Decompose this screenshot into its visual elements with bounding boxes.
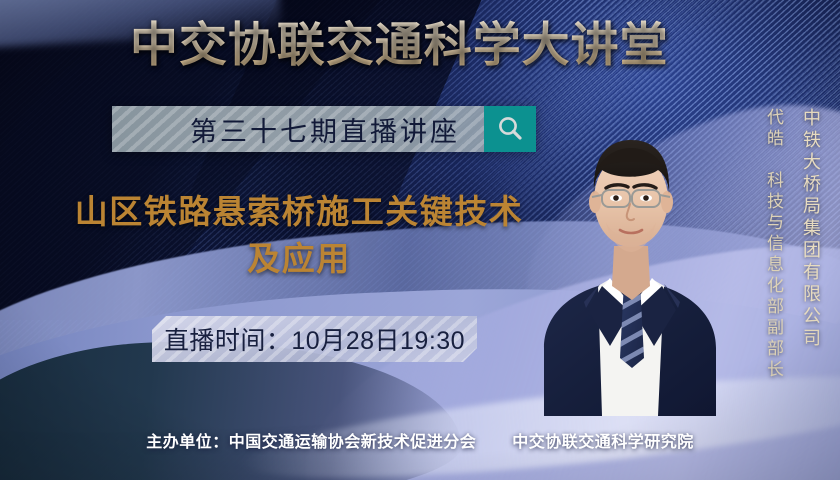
page-title: 中交协联交通科学大讲堂	[130, 16, 732, 74]
organizer-secondary: 中交协联交通科学研究院	[512, 434, 694, 451]
lecture-title: 山区铁路悬索桥施工关键技术 及应用	[44, 188, 554, 282]
broadcast-time-badge: 直播时间：10月28日19:30	[152, 316, 477, 362]
broadcast-time-label: 直播时间：10月28日19:30	[164, 321, 465, 357]
lecture-title-line-1: 山区铁路悬索桥施工关键技术	[44, 188, 554, 235]
speaker-organization: 中铁大桥局集团有限公司	[798, 108, 824, 350]
search-button[interactable]	[484, 106, 536, 152]
speaker-name-role: 代皓 科技与信息化部副部长	[761, 108, 786, 381]
search-icon	[495, 114, 525, 144]
organizer-footer: 主办单位：中国交通运输协会新技术促进分会 中交协联交通科学研究院	[0, 428, 840, 452]
episode-label: 第三十七期直播讲座	[136, 110, 460, 149]
organizer-primary: 主办单位：中国交通运输协会新技术促进分会	[146, 434, 476, 451]
lecture-title-line-2: 及应用	[44, 235, 554, 282]
speaker-portrait	[540, 96, 720, 416]
episode-banner-body: 第三十七期直播讲座	[112, 106, 484, 152]
episode-banner: 第三十七期直播讲座	[112, 106, 536, 152]
live-lecture-poster: 中交协联交通科学大讲堂 中交协联交通科学大讲堂 第三十七期直播讲座 山区铁路悬索…	[0, 0, 840, 480]
